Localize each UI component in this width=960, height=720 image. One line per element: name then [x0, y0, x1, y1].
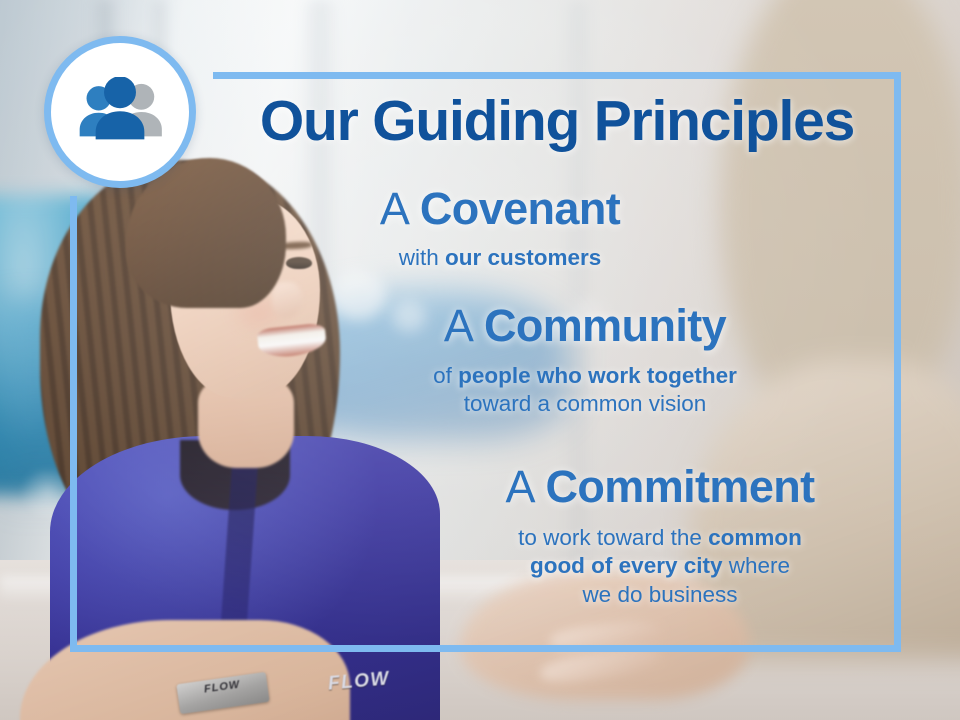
subtitle-emphasis: people who work together: [458, 363, 737, 388]
principle-covenant: A Covenant with our customers: [300, 185, 700, 272]
subtitle-lead: of: [433, 363, 458, 388]
people-group-icon: [74, 77, 166, 147]
principle-keyword: Covenant: [420, 183, 620, 234]
principle-keyword: Commitment: [546, 461, 815, 512]
subtitle-lead: to work toward the: [518, 525, 708, 550]
people-group-badge: [44, 36, 196, 188]
subtitle-lead: with: [399, 245, 445, 270]
principle-article: A: [444, 300, 484, 351]
principle-keyword: Community: [484, 300, 726, 351]
page-title: Our Guiding Principles: [213, 92, 901, 151]
guiding-principles-graphic: FLOW FLOW Our Guiding Principles A C: [0, 0, 960, 720]
polo-chest-logo: FLOW: [327, 669, 390, 693]
principle-community-heading: A Community: [370, 302, 800, 351]
subtitle-emphasis: common: [708, 525, 802, 550]
subtitle-emphasis: our customers: [445, 245, 601, 270]
principle-covenant-subtitle: with our customers: [300, 244, 700, 273]
principle-community-subtitle: of people who work together toward a com…: [370, 362, 800, 420]
principle-commitment: A Commitment to work toward the common g…: [440, 463, 880, 610]
principle-article: A: [380, 183, 420, 234]
subtitle-line-3: we do business: [582, 582, 737, 607]
principle-commitment-heading: A Commitment: [440, 463, 880, 512]
subtitle-line-2-tail: where: [723, 553, 791, 578]
subtitle-emphasis-2: good of every city: [530, 553, 723, 578]
principle-community: A Community of people who work together …: [370, 302, 800, 419]
principle-commitment-subtitle: to work toward the common good of every …: [440, 524, 880, 610]
subtitle-line-2: toward a common vision: [464, 391, 707, 416]
principle-covenant-heading: A Covenant: [300, 185, 700, 234]
principle-article: A: [505, 461, 545, 512]
